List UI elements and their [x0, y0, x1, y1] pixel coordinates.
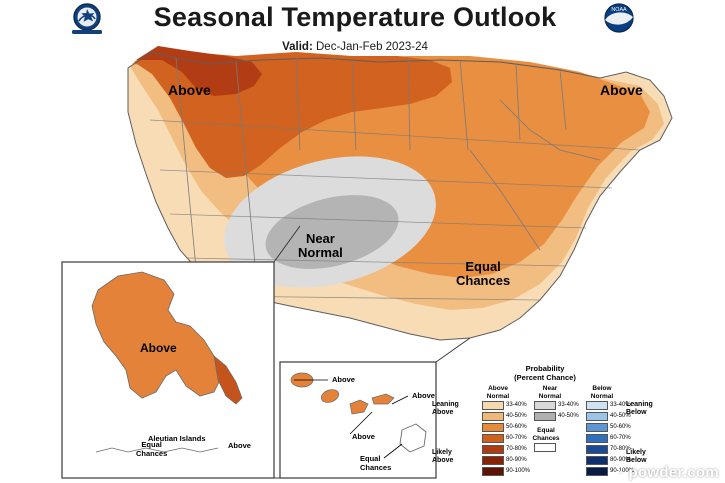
legend-col-header-below: Below Normal — [586, 385, 618, 400]
legend-above-label-0: 33-40% — [506, 401, 527, 410]
leaning-above-l2: Above — [432, 409, 459, 417]
map-label-above-northwest: Above — [168, 82, 211, 98]
legend-eq-l1: Equal — [528, 427, 564, 435]
legend-above-label-3: 60-70% — [506, 434, 527, 443]
legend-above-label-6: 90-100% — [506, 467, 530, 476]
legend-above-label-1: 40-50% — [506, 412, 527, 421]
legend-above-swatch-1 — [482, 412, 504, 421]
legend-eq-l2: Chances — [528, 435, 564, 443]
likely-above-l1: Likely — [432, 449, 453, 457]
legend-below-swatch-6 — [586, 467, 608, 476]
legend-side-likely-above: Likely Above — [432, 449, 453, 465]
watermark-text: powder.com — [628, 464, 719, 481]
legend-below-label-3: 60-70% — [610, 434, 631, 443]
legend-title-line2: (Percent Chance) — [485, 374, 605, 383]
legend-below-swatch-3 — [586, 434, 608, 443]
legend-near-swatch-1 — [534, 412, 556, 421]
legend-col-above-l1: Above — [482, 385, 514, 393]
legend-above-swatch-3 — [482, 434, 504, 443]
legend-below-swatch-2 — [586, 423, 608, 432]
map-label-aleutian-islands: Aleutian Islands — [148, 434, 206, 443]
legend-near-label-1: 40-50% — [558, 412, 579, 421]
map-label-alaska-above: Above — [140, 341, 177, 355]
near-normal-line1: Near — [298, 232, 343, 246]
legend-below-label-1: 40-50% — [610, 412, 631, 421]
watermark-separator: · — [619, 464, 624, 481]
legend-above-label-5: 80-90% — [506, 456, 527, 465]
outlook-map-figure: NOAA Seasonal Temperature Outlook Valid:… — [0, 0, 725, 483]
map-label-aleutian-above: Above — [228, 441, 251, 450]
legend-col-above-l2: Normal — [482, 393, 514, 401]
legend-below-swatch-5 — [586, 456, 608, 465]
legend-side-leaning-above: Leaning Above — [432, 401, 459, 417]
map-label-above-northeast: Above — [600, 82, 643, 98]
legend-below-label-4: 70-80% — [610, 445, 631, 454]
leaning-above-l1: Leaning — [432, 401, 459, 409]
legend-near-swatch-0 — [534, 401, 556, 410]
legend-below-label-2: 50-60% — [610, 423, 631, 432]
near-normal-line2: Normal — [298, 246, 343, 260]
map-label-equal-chances: Equal Chances — [456, 260, 510, 288]
legend-above-label-2: 50-60% — [506, 423, 527, 432]
likely-above-l2: Above — [432, 457, 453, 465]
legend-title: Probability (Percent Chance) — [485, 365, 605, 382]
equal-chances-line2: Chances — [456, 274, 510, 288]
legend-below-swatch-0 — [586, 401, 608, 410]
legend-above-swatch-5 — [482, 456, 504, 465]
legend-above-swatch-0 — [482, 401, 504, 410]
legend-col-below-l1: Below — [586, 385, 618, 393]
watermark: · powder.com — [619, 464, 719, 481]
legend-below-swatch-1 — [586, 412, 608, 421]
legend-col-header-near: Near Normal — [534, 385, 566, 400]
hawaii-leader-lines — [280, 362, 436, 478]
legend-col-below-l2: Normal — [586, 393, 618, 401]
legend-equal-chances-swatch — [534, 443, 556, 452]
legend-above-swatch-4 — [482, 445, 504, 454]
equal-chances-line1: Equal — [456, 260, 510, 274]
legend-equal-chances-label: Equal Chances — [528, 427, 564, 442]
legend-col-near-l1: Near — [534, 385, 566, 393]
map-label-near-normal: Near Normal — [298, 232, 343, 260]
legend-above-label-4: 70-80% — [506, 445, 527, 454]
ak-eq-line2: Chances — [136, 450, 167, 459]
legend-above-swatch-2 — [482, 423, 504, 432]
legend-below-label-0: 33-40% — [610, 401, 631, 410]
legend-below-swatch-4 — [586, 445, 608, 454]
legend-col-header-above: Above Normal — [482, 385, 514, 400]
legend-above-swatch-6 — [482, 467, 504, 476]
legend-near-label-0: 33-40% — [558, 401, 579, 410]
map-label-alaska-equal-chances: Equal Chances — [136, 441, 167, 458]
legend-col-near-l2: Normal — [534, 393, 566, 401]
